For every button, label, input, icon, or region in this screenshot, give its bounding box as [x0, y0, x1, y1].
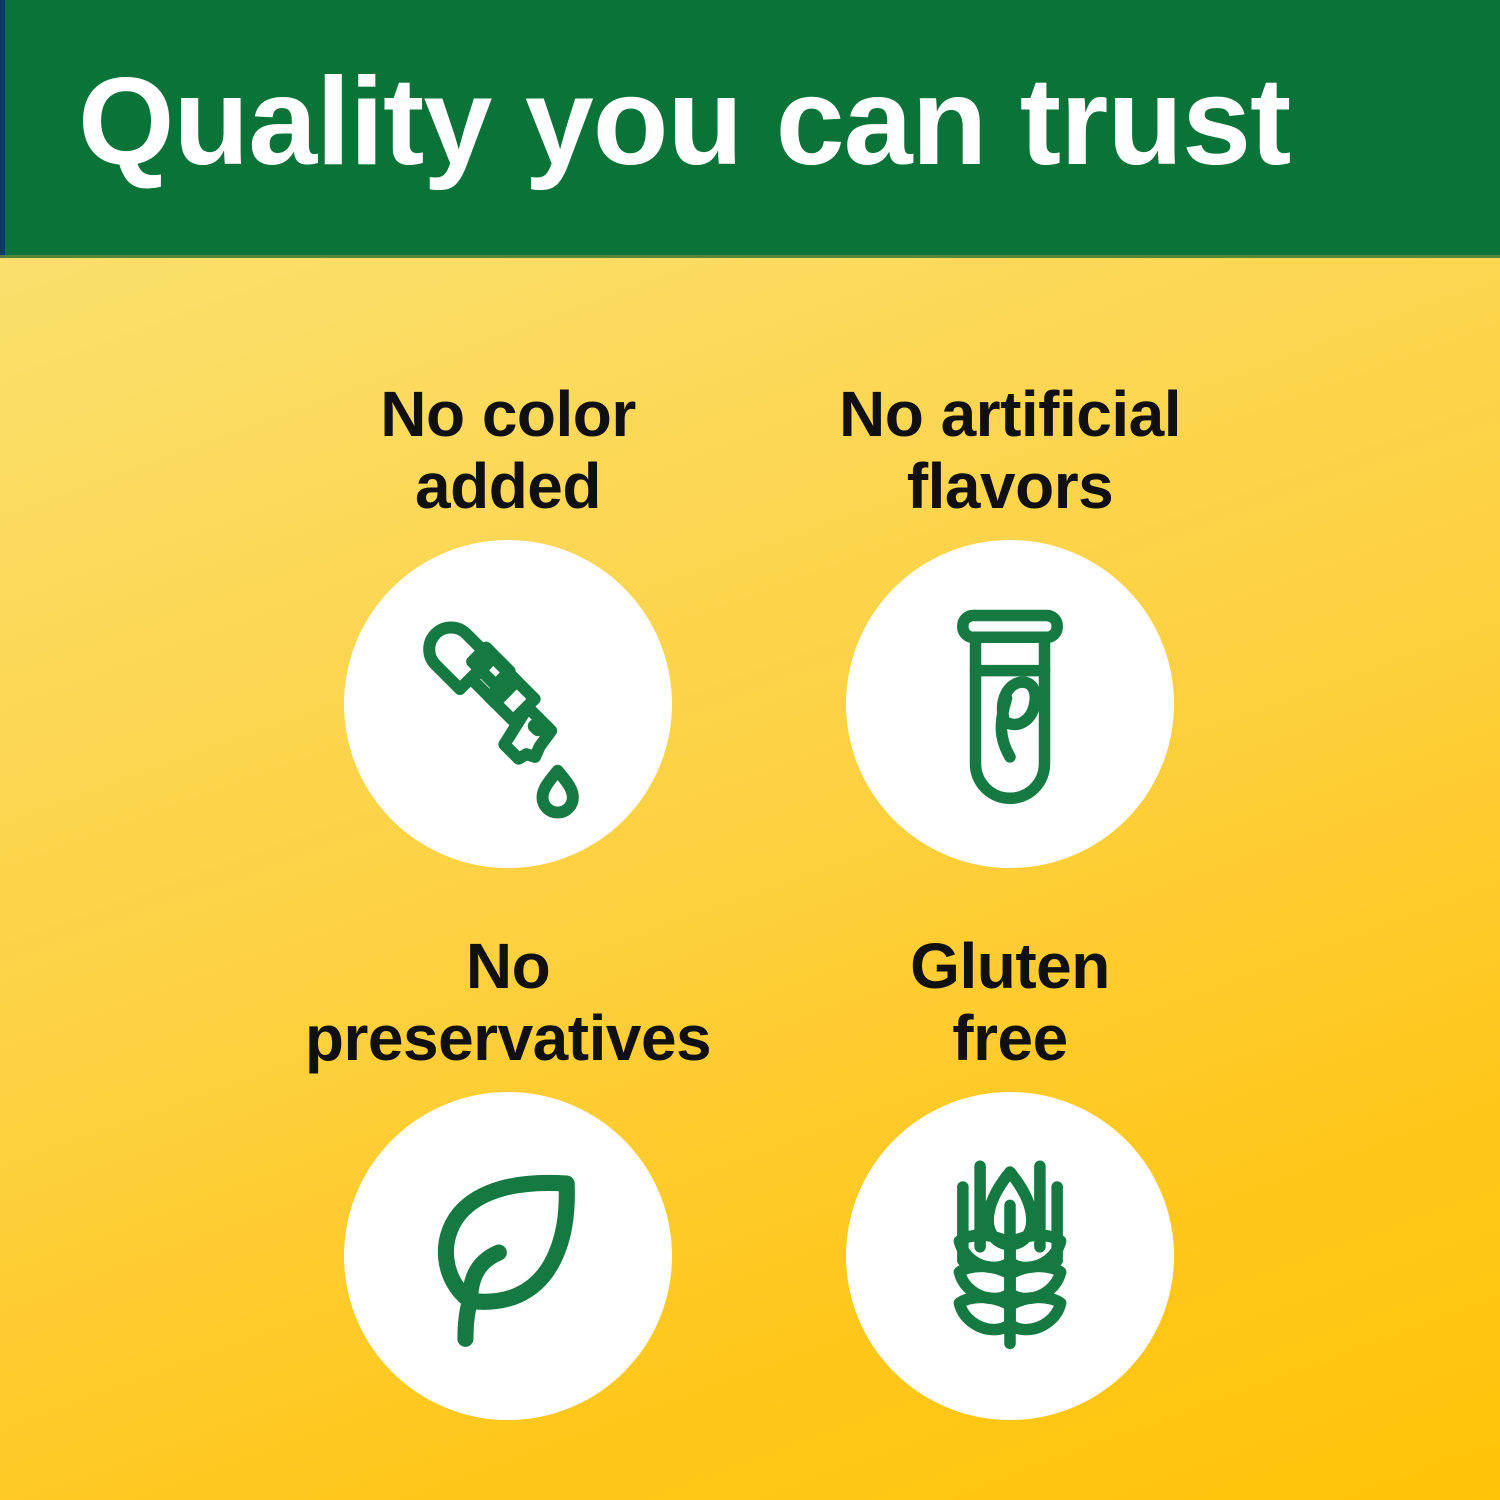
feature-no-preservatives: No preservatives — [258, 930, 758, 1420]
feature-label-no-color-added: No color added — [278, 378, 738, 522]
product-claims-infographic: Quality you can trust No color added — [0, 0, 1500, 1500]
feature-label-line-2: free — [780, 1002, 1240, 1074]
icon-badge-no-color-added — [344, 540, 672, 868]
header-banner: Quality you can trust — [0, 0, 1500, 258]
feature-label-line-1: Gluten — [780, 930, 1240, 1002]
leaf-icon — [393, 1141, 623, 1371]
feature-grid: No color added — [0, 258, 1500, 1500]
feature-label-line-1: No artificial — [780, 378, 1240, 450]
feature-gluten-free: Gluten free — [760, 930, 1260, 1420]
feature-label-line-1: No — [278, 930, 738, 1002]
feature-no-color-added: No color added — [258, 378, 758, 868]
dropper-icon — [393, 589, 623, 819]
feature-label-line-1: No color — [278, 378, 738, 450]
feature-label-line-2: added — [278, 450, 738, 522]
test-tube-leaf-icon — [895, 589, 1125, 819]
page-title: Quality you can trust — [78, 52, 1290, 192]
icon-badge-no-preservatives — [344, 1092, 672, 1420]
wheat-icon — [895, 1141, 1125, 1371]
header-left-accent-stripe — [0, 0, 5, 258]
icon-badge-gluten-free — [846, 1092, 1174, 1420]
feature-label-gluten-free: Gluten free — [780, 930, 1240, 1074]
icon-badge-no-artificial-flavors — [846, 540, 1174, 868]
feature-label-line-2: flavors — [780, 450, 1240, 522]
feature-label-no-preservatives: No preservatives — [278, 930, 738, 1074]
feature-label-line-2: preservatives — [278, 1002, 738, 1074]
feature-label-no-artificial-flavors: No artificial flavors — [780, 378, 1240, 522]
feature-no-artificial-flavors: No artificial flavors — [760, 378, 1260, 868]
